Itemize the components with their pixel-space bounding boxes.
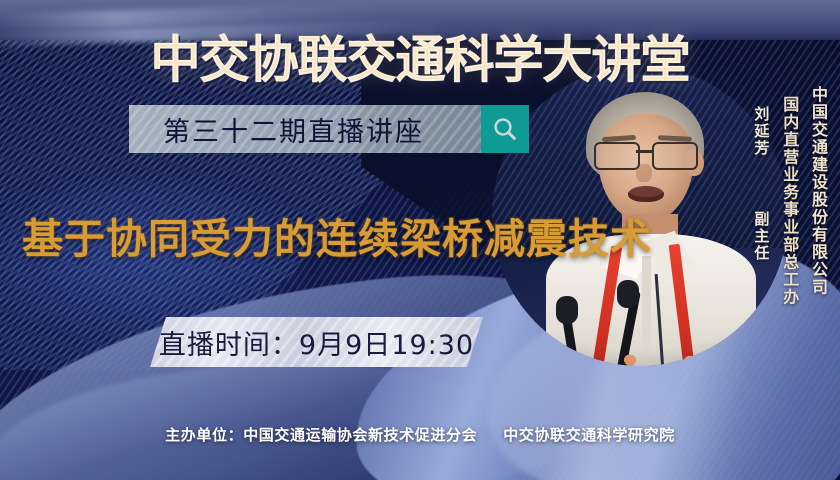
footer-prefix: 主办单位： xyxy=(165,426,243,444)
footer-organizers: 主办单位：中国交通运输协会新技术促进分会中交协联交通科学研究院 xyxy=(0,424,840,445)
speaker-role: 副主任 xyxy=(752,211,770,262)
speaker-company: 中国交通建设股份有限公司 xyxy=(807,86,828,296)
lecture-poster: 中交协联交通科学大讲堂 第三十二期直播讲座 基于协同受力的连续梁桥减震技术 直播… xyxy=(0,0,840,480)
speaker-name-role: 刘延芳 副主任 xyxy=(751,106,771,262)
broadcast-time-text: 直播时间：9月9日19:30 xyxy=(159,323,474,362)
speaker-credits: 刘延芳 副主任 国内直营业务事业部总工办 中国交通建设股份有限公司 xyxy=(743,86,828,306)
speaker-department: 国内直营业务事业部总工办 xyxy=(778,96,799,306)
page-title: 中交协联交通科学大讲堂 xyxy=(151,20,690,92)
speaker-name: 刘延芳 xyxy=(752,106,770,157)
lecture-title: 基于协同受力的连续梁桥减震技术 xyxy=(22,205,652,265)
session-label: 第三十二期直播讲座 xyxy=(163,110,424,149)
footer-organizer-primary: 中国交通运输协会新技术促进分会 xyxy=(243,426,477,444)
search-icon[interactable] xyxy=(481,105,529,153)
session-bar: 第三十二期直播讲座 xyxy=(129,105,529,153)
broadcast-time-banner: 直播时间：9月9日19:30 xyxy=(150,317,483,367)
footer-organizer-secondary: 中交协联交通科学研究院 xyxy=(503,426,675,444)
